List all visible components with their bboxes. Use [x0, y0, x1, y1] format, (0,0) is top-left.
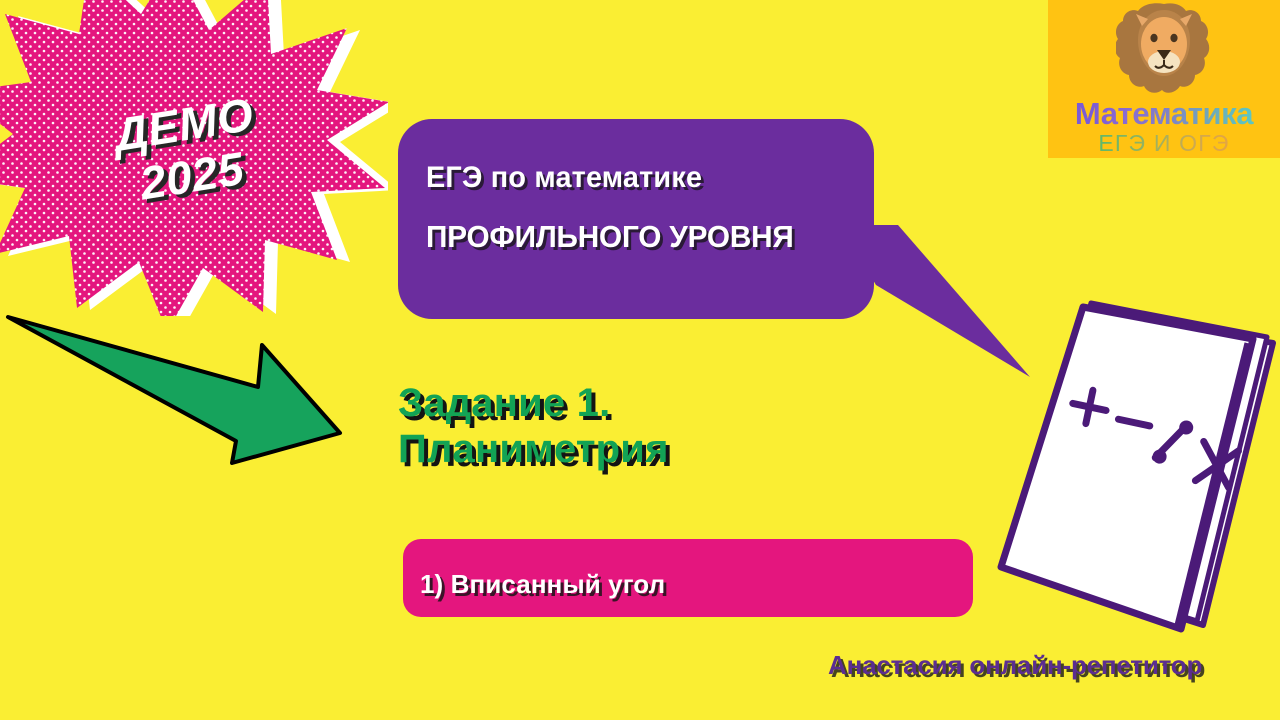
task-heading-line2: Планиметрия — [398, 426, 858, 472]
starburst-pink-layer — [0, 0, 388, 316]
exam-title-bubble: ЕГЭ по математике ПРОФИЛЬНОГО УРОВНЯ — [398, 119, 874, 319]
lion-icon — [1116, 2, 1212, 96]
subtopic-bar: 1) Вписанный угол — [403, 539, 973, 617]
author-credit: Анастасия онлайн-репетитор — [828, 650, 1202, 681]
exam-title-line2: ПРОФИЛЬНОГО УРОВНЯ — [426, 221, 856, 252]
math-book-icon: + − ⁒ × — [985, 295, 1280, 640]
demo-badge: ДЕМО 2025 — [0, 0, 388, 316]
brand-subtitle: ЕГЭ И ОГЭ — [1048, 130, 1280, 157]
slide-canvas: ДЕМО 2025 ЕГЭ по математике ПРОФИЛЬНОГО … — [0, 0, 1280, 720]
subtopic-label: 1) Вписанный угол — [420, 569, 665, 600]
brand-title: Математика — [1048, 96, 1280, 132]
green-arrow-icon — [0, 305, 375, 485]
task-heading-line1: Задание 1. — [398, 380, 858, 426]
brand-logo: Математика ЕГЭ И ОГЭ — [1048, 0, 1280, 158]
task-heading: Задание 1. Планиметрия — [398, 380, 858, 473]
exam-title-line1: ЕГЭ по математике — [426, 163, 856, 193]
